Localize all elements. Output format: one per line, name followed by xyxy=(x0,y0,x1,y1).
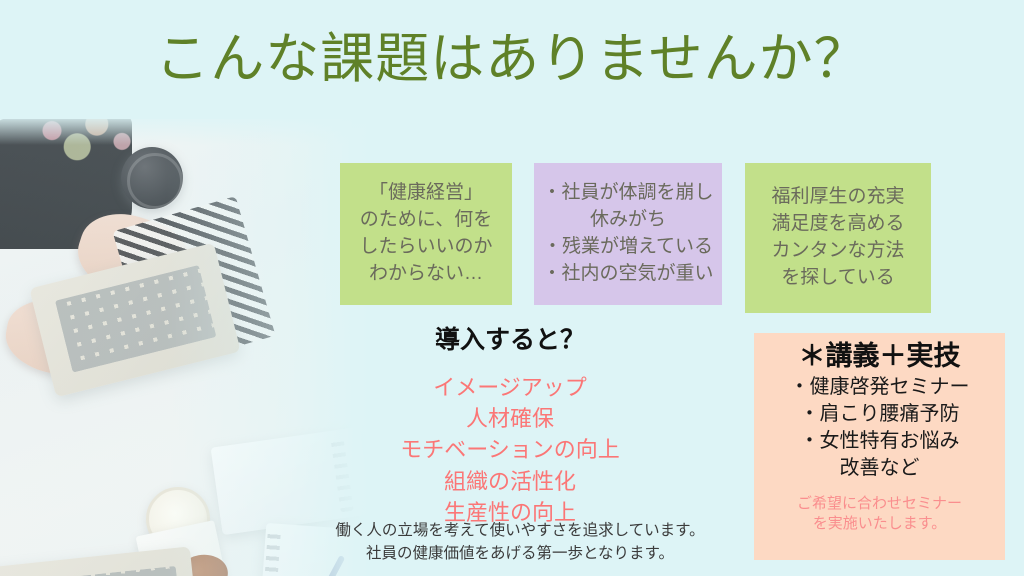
slide-canvas: こんな課題はありませんか？ 「健康経営」 のために、何を したらいいのか わから… xyxy=(0,0,1024,576)
offer-item-2: ・肩こり腰痛予防 xyxy=(762,401,997,428)
offer-title: ＊講義＋実技 xyxy=(762,340,997,372)
problem-box-2-line-3: ・残業が増えている xyxy=(542,234,714,261)
problem-box-1: 「健康経営」 のために、何を したらいいのか わからない… xyxy=(340,163,512,305)
page-title: こんな課題はありませんか？ xyxy=(0,28,1024,90)
problem-box-2-line-2: 休みがち xyxy=(542,207,714,234)
offer-note: ご希望に合わせセミナー を実施いたします。 xyxy=(762,494,997,535)
offer-box: ＊講義＋実技 ・健康啓発セミナー ・肩こり腰痛予防 ・女性特有お悩み 改善など … xyxy=(754,333,1005,560)
footer-caption-line-2: 社員の健康価値をあげる第一歩となります。 xyxy=(310,542,730,565)
problem-box-3-line-3: カンタンな方法 xyxy=(753,238,923,265)
problem-box-2-line-4: ・社内の空気が重い xyxy=(542,261,714,288)
problem-box-1-line-2: のために、何を xyxy=(348,207,504,234)
benefits-item-4: 組織の活性化 xyxy=(340,466,680,497)
photo-fade-overlay xyxy=(0,119,370,576)
offer-item-3: ・女性特有お悩み xyxy=(762,428,997,455)
problem-box-1-line-3: したらいいのか xyxy=(348,234,504,261)
problem-box-3-line-2: 満足度を高める xyxy=(753,211,923,238)
offer-list: ・健康啓発セミナー ・肩こり腰痛予防 ・女性特有お悩み 改善など xyxy=(762,374,997,481)
benefits-heading: 導入すると？ xyxy=(350,320,670,356)
offer-item-4: 改善など xyxy=(762,455,997,482)
benefits-item-1: イメージアップ xyxy=(340,372,680,403)
benefits-item-3: モチベーションの向上 xyxy=(340,434,680,465)
background-photo xyxy=(0,119,370,576)
offer-item-1: ・健康啓発セミナー xyxy=(762,374,997,401)
problem-box-3: 福利厚生の充実 満足度を高める カンタンな方法 を探している xyxy=(745,163,931,313)
offer-note-line-1: ご希望に合わせセミナー xyxy=(762,494,997,515)
benefits-list: イメージアップ 人材確保 モチベーションの向上 組織の活性化 生産性の向上 xyxy=(340,372,680,528)
footer-caption: 働く人の立場を考えて使いやすさを追求しています。 社員の健康価値をあげる第一歩と… xyxy=(310,519,730,566)
problem-box-1-line-4: わからない… xyxy=(348,261,504,288)
problem-box-2-line-1: ・社員が体調を崩し xyxy=(542,180,714,207)
problem-box-1-line-1: 「健康経営」 xyxy=(348,180,504,207)
offer-note-line-2: を実施いたします。 xyxy=(762,514,997,535)
problem-box-2: ・社員が体調を崩し 休みがち ・残業が増えている ・社内の空気が重い xyxy=(534,163,722,305)
problem-box-3-line-4: を探している xyxy=(753,265,923,292)
footer-caption-line-1: 働く人の立場を考えて使いやすさを追求しています。 xyxy=(310,519,730,542)
benefits-item-2: 人材確保 xyxy=(340,403,680,434)
photo-fade-top xyxy=(0,119,370,145)
problem-box-3-line-1: 福利厚生の充実 xyxy=(753,184,923,211)
